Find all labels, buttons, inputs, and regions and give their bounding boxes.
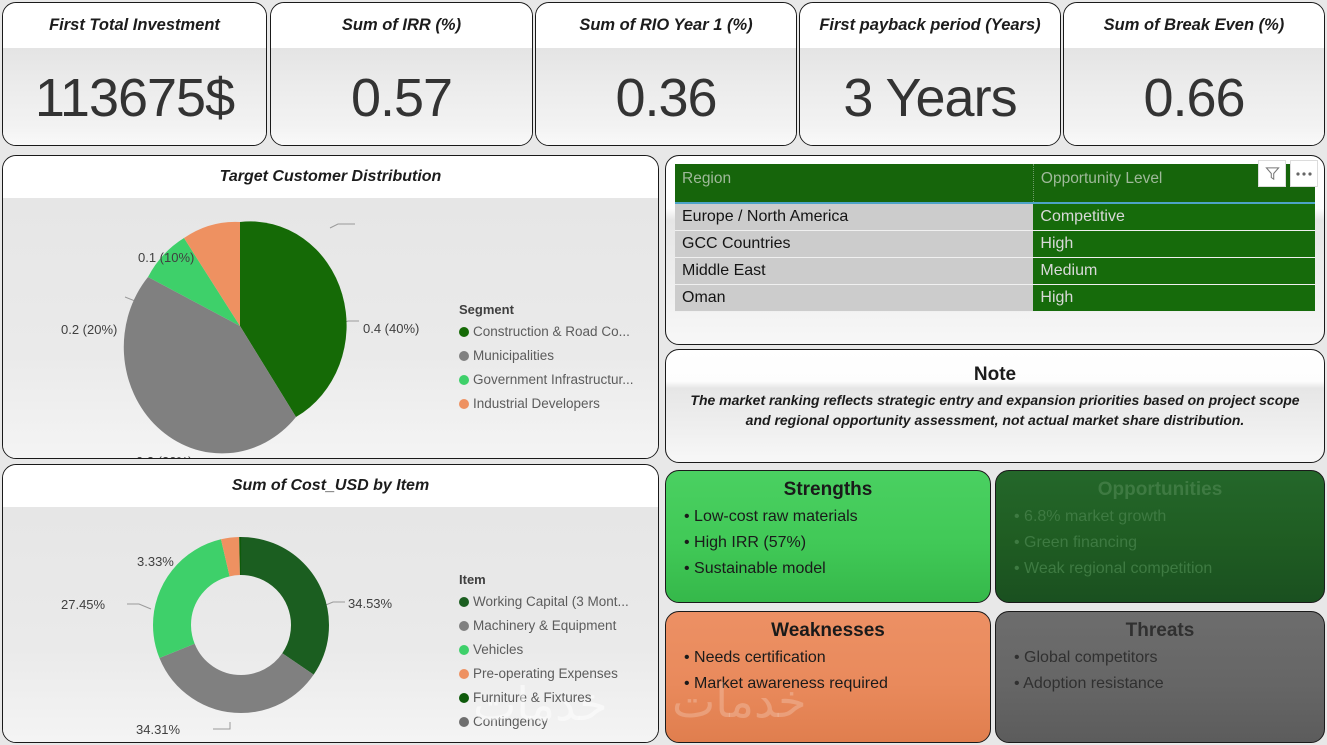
swot-card-strengths[interactable]: Strengths Low-cost raw materials High IR… bbox=[665, 470, 991, 603]
swot-item: 6.8% market growth bbox=[1014, 504, 1324, 530]
swot-card-threats[interactable]: Threats Global competitors Adoption resi… bbox=[995, 611, 1325, 743]
legend-item-municipalities[interactable]: Municipalities bbox=[459, 348, 634, 363]
swot-title-strengths: Strengths bbox=[666, 479, 990, 501]
dashboard-root: First Total Investment 113675$ Sum of IR… bbox=[0, 0, 1327, 745]
table-header-row: Region Opportunity Level bbox=[675, 164, 1315, 203]
visual-header-icons bbox=[1258, 160, 1318, 187]
cell-region: Middle East bbox=[675, 258, 1033, 285]
cell-region: Oman bbox=[675, 285, 1033, 312]
legend-label: Pre-operating Expenses bbox=[473, 666, 618, 681]
filter-icon[interactable] bbox=[1258, 160, 1286, 187]
kpi-title: Sum of IRR (%) bbox=[271, 3, 532, 48]
legend-item-pre-operating[interactable]: Pre-operating Expenses bbox=[459, 666, 629, 681]
pie-label-government: 0.2 (20%) bbox=[61, 322, 117, 337]
kpi-value: 0.36 bbox=[536, 48, 796, 146]
swot-item: Market awareness required bbox=[684, 671, 990, 697]
leader-line-2745 bbox=[127, 604, 151, 609]
cost-by-item-panel[interactable]: Sum of Cost_USD by Item bbox=[2, 464, 659, 743]
legend-item-government[interactable]: Government Infrastructur... bbox=[459, 372, 634, 387]
legend-swatch-icon bbox=[459, 597, 469, 607]
donut-chart-body: 3.33% 27.45% 34.31% 34.53% Item Working … bbox=[3, 507, 658, 742]
cell-region: Europe / North America bbox=[675, 203, 1033, 231]
legend-swatch-icon bbox=[459, 351, 469, 361]
cell-opportunity-level: High bbox=[1033, 285, 1315, 312]
swot-title-weaknesses: Weaknesses bbox=[666, 620, 990, 642]
swot-list-opportunities: 6.8% market growth Green financing Weak … bbox=[996, 504, 1324, 582]
legend-label: Contingency bbox=[473, 714, 548, 729]
kpi-card-break-even[interactable]: Sum of Break Even (%) 0.66 bbox=[1063, 2, 1325, 146]
kpi-value: 0.66 bbox=[1064, 48, 1324, 146]
legend-item-construction[interactable]: Construction & Road Co... bbox=[459, 324, 634, 339]
kpi-title: First Total Investment bbox=[3, 3, 266, 48]
legend-swatch-icon bbox=[459, 669, 469, 679]
donut-ring bbox=[172, 556, 310, 694]
pie-label-construction: 0.4 (40%) bbox=[363, 321, 419, 336]
note-title: Note bbox=[666, 364, 1324, 386]
legend-label: Working Capital (3 Mont... bbox=[473, 594, 629, 609]
legend-swatch-icon bbox=[459, 399, 469, 409]
table-row[interactable]: Middle East Medium bbox=[675, 258, 1315, 285]
pie-label-municipalities: 0.3 (30%) bbox=[136, 454, 192, 459]
cell-opportunity-level: High bbox=[1033, 231, 1315, 258]
legend-item-furniture[interactable]: Furniture & Fixtures bbox=[459, 690, 629, 705]
kpi-title: Sum of RIO Year 1 (%) bbox=[536, 3, 796, 48]
legend-label: Industrial Developers bbox=[473, 396, 600, 411]
swot-list-strengths: Low-cost raw materials High IRR (57%) Su… bbox=[666, 504, 990, 582]
matrix-visual[interactable]: Region Opportunity Level Europe / North … bbox=[675, 164, 1315, 312]
table-row[interactable]: Europe / North America Competitive bbox=[675, 203, 1315, 231]
swot-item: Needs certification bbox=[684, 645, 990, 671]
panel-title: Target Customer Distribution bbox=[3, 156, 658, 198]
swot-title-opportunities: Opportunities bbox=[996, 479, 1324, 501]
kpi-card-rio-year-1[interactable]: Sum of RIO Year 1 (%) 0.36 bbox=[535, 2, 797, 146]
swot-item: Green financing bbox=[1014, 530, 1324, 556]
legend-swatch-icon bbox=[459, 717, 469, 727]
pie-label-industrial: 0.1 (10%) bbox=[138, 250, 194, 265]
swot-item: High IRR (57%) bbox=[684, 530, 990, 556]
note-body: The market ranking reflects strategic en… bbox=[666, 386, 1324, 431]
donut-legend: Item Working Capital (3 Mont... Machiner… bbox=[459, 572, 629, 738]
kpi-title: Sum of Break Even (%) bbox=[1064, 3, 1324, 48]
legend-label: Construction & Road Co... bbox=[473, 324, 630, 339]
legend-swatch-icon bbox=[459, 645, 469, 655]
kpi-title: First payback period (Years) bbox=[800, 3, 1060, 48]
swot-item: Sustainable model bbox=[684, 556, 990, 582]
swot-title-threats: Threats bbox=[996, 620, 1324, 642]
legend-item-contingency[interactable]: Contingency bbox=[459, 714, 629, 729]
swot-item: Global competitors bbox=[1014, 645, 1324, 671]
cell-opportunity-level: Competitive bbox=[1033, 203, 1315, 231]
legend-item-industrial[interactable]: Industrial Developers bbox=[459, 396, 634, 411]
swot-item: Weak regional competition bbox=[1014, 556, 1324, 582]
legend-swatch-icon bbox=[459, 327, 469, 337]
legend-label: Machinery & Equipment bbox=[473, 618, 616, 633]
donut-label-pre-operating: 3.33% bbox=[137, 554, 174, 569]
kpi-card-payback-period[interactable]: First payback period (Years) 3 Years bbox=[799, 2, 1061, 146]
leader-line-10 bbox=[330, 224, 355, 228]
legend-label: Furniture & Fixtures bbox=[473, 690, 592, 705]
ellipsis-glyph bbox=[1295, 171, 1313, 177]
swot-card-weaknesses[interactable]: Weaknesses Needs certification Market aw… bbox=[665, 611, 991, 743]
swot-list-weaknesses: Needs certification Market awareness req… bbox=[666, 645, 990, 697]
legend-title: Segment bbox=[459, 302, 634, 317]
more-options-icon[interactable] bbox=[1290, 160, 1318, 187]
legend-swatch-icon bbox=[459, 375, 469, 385]
cell-region: GCC Countries bbox=[675, 231, 1033, 258]
donut-label-working-capital: 34.53% bbox=[348, 596, 392, 611]
target-customer-distribution-panel[interactable]: Target Customer Distribution 0.1 (10%) 0 bbox=[2, 155, 659, 459]
swot-list-threats: Global competitors Adoption resistance bbox=[996, 645, 1324, 697]
legend-title: Item bbox=[459, 572, 629, 587]
kpi-value: 0.57 bbox=[271, 48, 532, 146]
filter-funnel-glyph bbox=[1265, 166, 1280, 181]
table-row[interactable]: Oman High bbox=[675, 285, 1315, 312]
legend-label: Vehicles bbox=[473, 642, 523, 657]
legend-swatch-icon bbox=[459, 693, 469, 703]
legend-item-machinery[interactable]: Machinery & Equipment bbox=[459, 618, 629, 633]
legend-label: Government Infrastructur... bbox=[473, 372, 634, 387]
swot-card-opportunities[interactable]: Opportunities 6.8% market growth Green f… bbox=[995, 470, 1325, 603]
legend-swatch-icon bbox=[459, 621, 469, 631]
swot-item: Low-cost raw materials bbox=[684, 504, 990, 530]
kpi-value: 3 Years bbox=[800, 48, 1060, 146]
swot-item: Adoption resistance bbox=[1014, 671, 1324, 697]
leader-line-3431 bbox=[213, 722, 230, 729]
kpi-card-irr[interactable]: Sum of IRR (%) 0.57 bbox=[270, 2, 533, 146]
legend-label: Municipalities bbox=[473, 348, 554, 363]
cell-opportunity-level: Medium bbox=[1033, 258, 1315, 285]
note-card: Note The market ranking reflects strateg… bbox=[665, 349, 1325, 463]
kpi-card-total-investment[interactable]: First Total Investment 113675$ bbox=[2, 2, 267, 146]
panel-title: Sum of Cost_USD by Item bbox=[3, 465, 658, 507]
region-opportunity-table[interactable]: Region Opportunity Level Europe / North … bbox=[665, 155, 1325, 345]
donut-label-machinery: 34.31% bbox=[136, 722, 180, 737]
donut-label-vehicles: 27.45% bbox=[61, 597, 105, 612]
legend-item-vehicles[interactable]: Vehicles bbox=[459, 642, 629, 657]
pie-chart-body: 0.1 (10%) 0.2 (20%) 0.3 (30%) 0.4 (40%) … bbox=[3, 198, 658, 458]
legend-item-working-capital[interactable]: Working Capital (3 Mont... bbox=[459, 594, 629, 609]
kpi-value: 113675$ bbox=[3, 48, 266, 146]
table-row[interactable]: GCC Countries High bbox=[675, 231, 1315, 258]
pie-legend: Segment Construction & Road Co... Munici… bbox=[459, 302, 634, 420]
column-header-region[interactable]: Region bbox=[675, 164, 1033, 203]
